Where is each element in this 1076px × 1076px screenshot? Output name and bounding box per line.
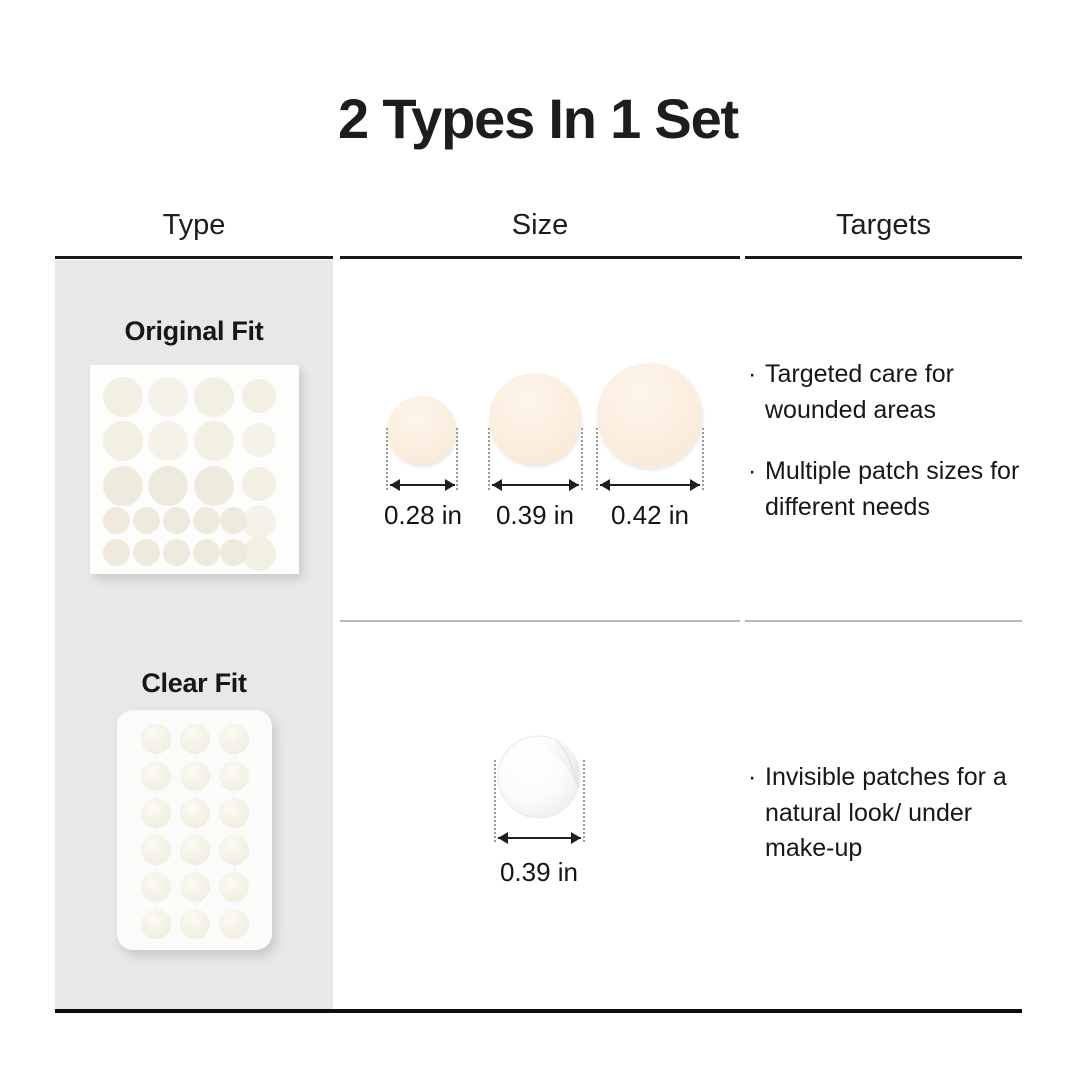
patch-lane-line	[234, 726, 235, 934]
patch-dot	[163, 539, 190, 566]
clear-patch-dot	[219, 909, 249, 939]
patch-dot	[193, 539, 220, 566]
target-bullet-3: · Invisible patches for a natural look/ …	[748, 760, 1033, 867]
patch-lane-line	[156, 726, 157, 934]
clear-patch-dot	[141, 909, 171, 939]
patch-dot	[194, 421, 234, 461]
clear-patch-dot	[180, 761, 210, 791]
patch-dot	[133, 507, 160, 534]
arrow-line	[498, 837, 581, 839]
measure-arrow-clear	[498, 831, 581, 845]
guide-line-left-clear	[494, 760, 496, 842]
guide-line-right-small	[456, 428, 458, 490]
bullet-mark-icon: ·	[748, 760, 756, 796]
measure-arrow-large	[600, 478, 700, 492]
clear-patch-dot	[141, 724, 171, 754]
patch-dot	[133, 539, 160, 566]
patch-dot	[242, 537, 276, 571]
arrow-line	[492, 484, 579, 486]
patch-dot	[103, 539, 130, 566]
clear-patch-dot	[219, 761, 249, 791]
size-label-large: 0.42 in	[587, 500, 713, 531]
patch-dot	[194, 377, 234, 417]
clear-patch-dot	[180, 835, 210, 865]
clear-patch-dot	[219, 724, 249, 754]
patch-dot	[220, 507, 247, 534]
clear-patch-dot	[219, 835, 249, 865]
clear-patch-svg	[495, 733, 583, 821]
guide-line-right-large	[702, 428, 704, 490]
arrow-line	[600, 484, 700, 486]
bullet-mark-icon: ·	[748, 357, 756, 393]
size-label-clear: 0.39 in	[476, 857, 602, 888]
header-rule-targets	[745, 256, 1022, 259]
patch-circle-large	[597, 363, 702, 468]
patch-dot	[242, 467, 276, 501]
arrow-head-left-icon	[600, 479, 610, 491]
patch-dot	[242, 505, 276, 539]
patch-lane-line	[195, 726, 196, 934]
patch-dot	[242, 423, 276, 457]
patch-dot	[242, 379, 276, 413]
target-bullet-1: · Targeted care for wounded areas	[748, 357, 1033, 428]
guide-line-right-clear	[583, 760, 585, 842]
patch-dot	[148, 377, 188, 417]
arrow-head-left-icon	[492, 479, 502, 491]
column-header-targets: Targets	[745, 209, 1022, 242]
patch-dot	[194, 466, 234, 506]
row-divider-targets	[745, 620, 1022, 622]
target-bullet-1-text: Targeted care for wounded areas	[765, 360, 954, 424]
arrow-head-left-icon	[498, 832, 508, 844]
header-rule-type	[55, 256, 333, 259]
arrow-head-right-icon	[569, 479, 579, 491]
page-title: 2 Types In 1 Set	[0, 86, 1076, 151]
patch-dot	[220, 539, 247, 566]
clear-fit-patch-sheet-icon	[117, 710, 272, 950]
targets-list-original-fit: · Targeted care for wounded areas · Mult…	[748, 357, 1033, 525]
clear-patch-dot	[180, 724, 210, 754]
clear-patch-dot	[141, 761, 171, 791]
target-bullet-2: · Multiple patch sizes for different nee…	[748, 454, 1033, 525]
clear-patch-dot	[141, 835, 171, 865]
clear-patch-dot	[219, 872, 249, 902]
clear-patch-dot	[180, 872, 210, 902]
target-bullet-2-text: Multiple patch sizes for different needs	[765, 457, 1019, 521]
type-label-clear-fit: Clear Fit	[55, 668, 333, 699]
patch-dot	[148, 466, 188, 506]
arrow-head-right-icon	[690, 479, 700, 491]
arrow-head-left-icon	[390, 479, 400, 491]
column-header-size: Size	[340, 209, 740, 242]
patch-dot	[148, 421, 188, 461]
patch-dot	[103, 507, 130, 534]
patch-dot	[103, 421, 143, 461]
guide-line-left-large	[596, 428, 598, 490]
clear-patch-icon	[495, 733, 583, 821]
table-bottom-rule	[55, 1009, 1022, 1013]
measure-arrow-small	[390, 478, 455, 492]
patch-dot	[103, 466, 143, 506]
patch-dot	[103, 377, 143, 417]
patch-dot	[163, 507, 190, 534]
original-fit-patch-sheet-icon	[90, 365, 299, 574]
arrow-head-right-icon	[571, 832, 581, 844]
targets-list-clear-fit: · Invisible patches for a natural look/ …	[748, 760, 1033, 867]
column-header-type: Type	[55, 209, 333, 242]
guide-line-left-medium	[488, 428, 490, 490]
clear-patch-dot	[180, 798, 210, 828]
measure-arrow-medium	[492, 478, 579, 492]
guide-line-left-small	[386, 428, 388, 490]
patch-circle-small	[387, 396, 456, 465]
size-label-small: 0.28 in	[360, 500, 486, 531]
guide-line-right-medium	[581, 428, 583, 490]
type-label-original-fit: Original Fit	[55, 316, 333, 347]
size-label-medium: 0.39 in	[472, 500, 598, 531]
bullet-mark-icon: ·	[748, 454, 756, 490]
patch-circle-medium	[489, 373, 581, 465]
arrow-head-right-icon	[445, 479, 455, 491]
row-divider-size	[340, 620, 740, 622]
target-bullet-3-text: Invisible patches for a natural look/ un…	[765, 763, 1007, 862]
infographic-canvas: 2 Types In 1 Set Type Size Targets Origi…	[0, 0, 1076, 1076]
clear-patch-dot	[141, 798, 171, 828]
clear-patch-dot	[219, 798, 249, 828]
patch-dot	[193, 507, 220, 534]
clear-patch-dot	[141, 872, 171, 902]
clear-patch-dot	[180, 909, 210, 939]
header-rule-size	[340, 256, 740, 259]
